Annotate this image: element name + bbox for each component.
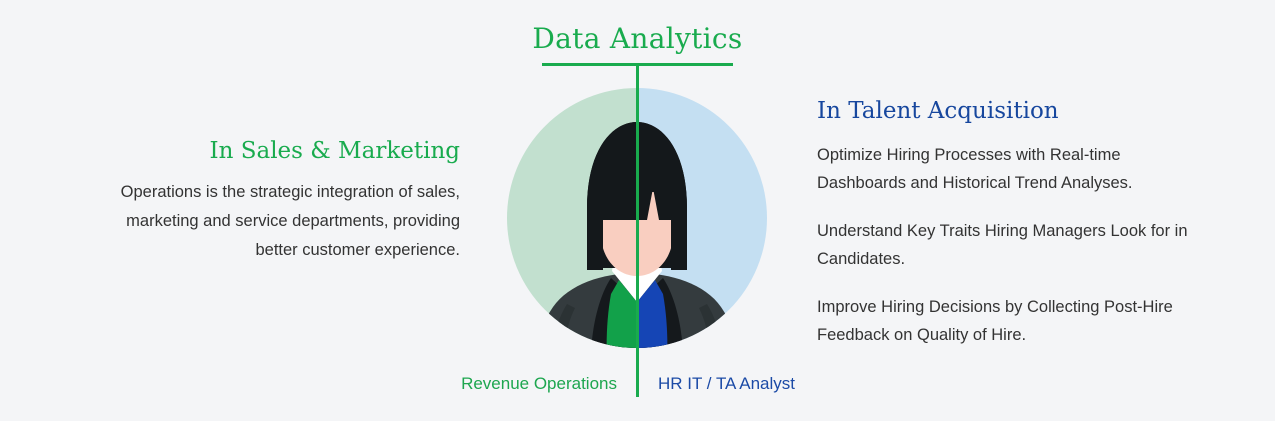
talent-acquisition-paragraph-2: Understand Key Traits Hiring Managers Lo… bbox=[817, 217, 1207, 273]
sales-marketing-column: In Sales & Marketing Operations is the s… bbox=[80, 138, 460, 265]
sales-marketing-paragraph: Operations is the strategic integration … bbox=[80, 178, 460, 265]
sales-marketing-heading: In Sales & Marketing bbox=[80, 138, 460, 164]
footer-label-revenue-operations: Revenue Operations bbox=[0, 374, 617, 394]
talent-acquisition-column: In Talent Acquisition Optimize Hiring Pr… bbox=[817, 98, 1207, 349]
footer-label-hr-analyst: HR IT / TA Analyst bbox=[658, 374, 795, 394]
talent-acquisition-paragraph-1: Optimize Hiring Processes with Real-time… bbox=[817, 141, 1207, 197]
center-divider-line bbox=[636, 63, 639, 397]
infographic-canvas: Data Analytics bbox=[0, 0, 1275, 421]
talent-acquisition-paragraph-3: Improve Hiring Decisions by Collecting P… bbox=[817, 293, 1207, 349]
page-title: Data Analytics bbox=[0, 22, 1275, 55]
talent-acquisition-heading: In Talent Acquisition bbox=[817, 98, 1207, 124]
